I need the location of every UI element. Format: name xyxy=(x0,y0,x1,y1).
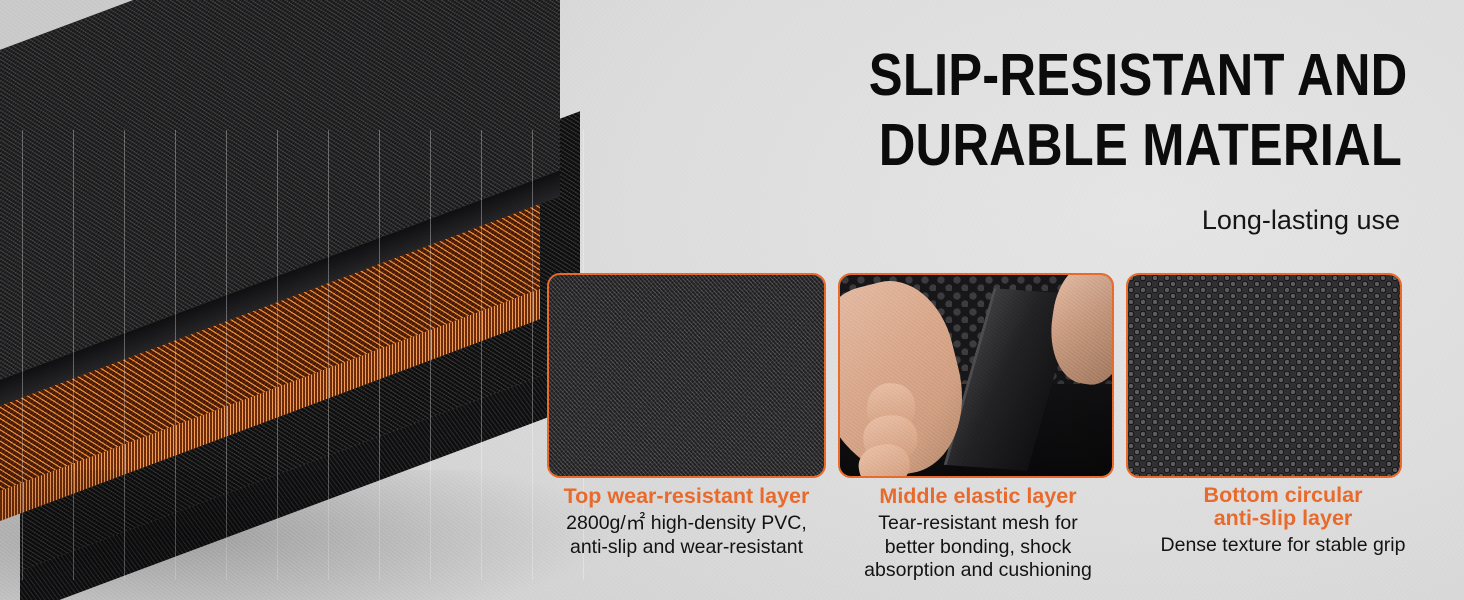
panel-bottom-layer xyxy=(1126,273,1402,478)
caption-middle-layer-title: Middle elastic layer xyxy=(838,484,1118,508)
caption-title-line: anti-slip layer xyxy=(1214,506,1353,530)
panel-shading-overlay xyxy=(840,275,1112,476)
diagonal-twill-texture xyxy=(549,275,824,476)
caption-title-line: Bottom circular xyxy=(1204,483,1363,507)
caption-line: better bonding, shock xyxy=(885,536,1071,558)
panel-top-layer xyxy=(547,273,826,478)
caption-line: absorption and cushioning xyxy=(864,559,1092,581)
caption-line: anti-slip and wear-resistant xyxy=(570,536,803,558)
headline-line-2: DURABLE MATERIAL xyxy=(869,110,1402,180)
headline-line-1: SLIP-RESISTANT AND xyxy=(869,42,1408,108)
feature-panel-group xyxy=(547,273,1402,478)
banner-headline: SLIP-RESISTANT AND DURABLE MATERIAL xyxy=(869,40,1402,180)
caption-bottom-layer-body: Dense texture for stable grip xyxy=(1118,534,1448,558)
caption-top-layer: Top wear-resistant layer 2800g/㎡ high-de… xyxy=(524,484,849,559)
caption-top-layer-body: 2800g/㎡ high-density PVC, anti-slip and … xyxy=(524,512,849,559)
banner-subheadline: Long-lasting use xyxy=(800,205,1400,236)
panel-middle-layer xyxy=(838,273,1114,478)
caption-line: Tear-resistant mesh for xyxy=(878,512,1077,534)
caption-top-layer-title: Top wear-resistant layer xyxy=(524,484,849,508)
caption-bottom-layer: Bottom circular anti-slip layer Dense te… xyxy=(1118,484,1448,558)
circular-stud-texture xyxy=(1128,275,1400,476)
caption-middle-layer-body: Tear-resistant mesh for better bonding, … xyxy=(838,512,1118,583)
product-feature-banner: SLIP-RESISTANT AND DURABLE MATERIAL Long… xyxy=(0,0,1464,600)
caption-bottom-layer-title: Bottom circular anti-slip layer xyxy=(1118,484,1448,530)
caption-middle-layer: Middle elastic layer Tear-resistant mesh… xyxy=(838,484,1118,583)
caption-line: 2800g/㎡ high-density PVC, xyxy=(566,512,807,534)
